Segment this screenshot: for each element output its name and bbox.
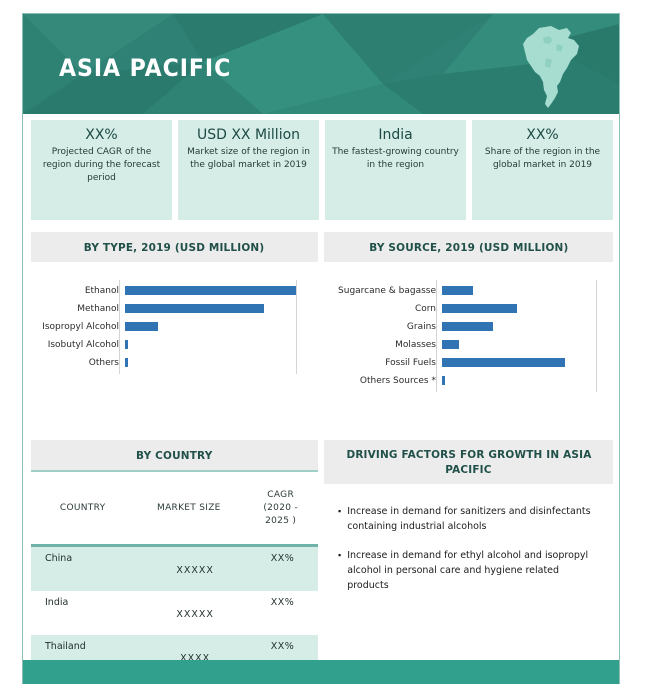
kpi-card-cagr: XX% Projected CAGR of the region during … bbox=[31, 120, 172, 220]
cell-country: India bbox=[31, 597, 143, 608]
cagr-line-3: 2025 ) bbox=[243, 515, 318, 528]
section-title: BY COUNTRY bbox=[136, 449, 212, 462]
kpi-card-market-size: USD XX Million Market size of the region… bbox=[178, 120, 319, 220]
column-header-cagr: CAGR (2020 - 2025 ) bbox=[243, 489, 318, 528]
bar bbox=[442, 286, 473, 295]
chart-by-source: Sugarcane & bagasseCornGrainsMolassesFos… bbox=[324, 268, 613, 418]
country-table: COUNTRY MARKET SIZE CAGR (2020 - 2025 ) … bbox=[31, 470, 318, 676]
bullet-icon: ▪ bbox=[338, 548, 347, 593]
bar-track bbox=[125, 300, 314, 318]
chart-bar-row: Ethanol bbox=[31, 282, 314, 300]
bar-track bbox=[125, 336, 314, 354]
bar-category-label: Methanol bbox=[31, 304, 125, 314]
bar-track bbox=[125, 354, 314, 372]
section-title: BY SOURCE, 2019 (USD MILLION) bbox=[369, 241, 568, 254]
kpi-description: Share of the region in the global market… bbox=[472, 146, 613, 172]
cagr-line-2: (2020 - bbox=[243, 502, 318, 515]
section-header-drivers: DRIVING FACTORS FOR GROWTH IN ASIA PACIF… bbox=[324, 440, 613, 484]
driver-item: ▪Increase in demand for sanitizers and d… bbox=[338, 504, 601, 534]
kpi-value: India bbox=[378, 128, 412, 143]
chart-gridline bbox=[296, 280, 297, 374]
kpi-card-fastest-country: India The fastest-growing country in the… bbox=[325, 120, 466, 220]
bar bbox=[125, 340, 128, 349]
infographic-page: ASIA PACIFIC XX% Projected CAGR of the r… bbox=[0, 0, 650, 696]
chart-bar-row: Others bbox=[31, 354, 314, 372]
bar-track bbox=[442, 282, 609, 300]
header-banner: ASIA PACIFIC bbox=[23, 14, 619, 114]
kpi-card-share: XX% Share of the region in the global ma… bbox=[472, 120, 613, 220]
chart-gridline bbox=[436, 280, 437, 392]
section-header-by-type: BY TYPE, 2019 (USD MILLION) bbox=[31, 232, 318, 262]
bar-category-label: Molasses bbox=[324, 340, 442, 350]
bar bbox=[442, 340, 459, 349]
drivers-list: ▪Increase in demand for sanitizers and d… bbox=[324, 488, 613, 676]
chart-bar-row: Molasses bbox=[324, 336, 609, 354]
bar bbox=[125, 322, 158, 331]
bar-category-label: Isopropyl Alcohol bbox=[31, 322, 125, 332]
bar-category-label: Grains bbox=[324, 322, 442, 332]
section-title: BY TYPE, 2019 (USD MILLION) bbox=[84, 241, 265, 254]
cell-country: Thailand bbox=[31, 641, 143, 652]
bar-track bbox=[442, 318, 609, 336]
chart-bar-row: Corn bbox=[324, 300, 609, 318]
table-row: ChinaXXXXXXX% bbox=[31, 547, 318, 591]
driver-text: Increase in demand for sanitizers and di… bbox=[347, 504, 601, 534]
table-row: IndiaXXXXXXX% bbox=[31, 591, 318, 635]
bar-category-label: Others bbox=[31, 358, 125, 368]
bar bbox=[442, 358, 565, 367]
bar-track bbox=[442, 354, 609, 372]
kpi-value: XX% bbox=[526, 128, 558, 143]
cell-cagr: XX% bbox=[247, 597, 318, 608]
cell-cagr: XX% bbox=[247, 641, 318, 652]
chart-bar-row: Sugarcane & bagasse bbox=[324, 282, 609, 300]
kpi-description: Projected CAGR of the region during the … bbox=[31, 146, 172, 185]
cell-country: China bbox=[31, 553, 143, 564]
bar-track bbox=[442, 300, 609, 318]
section-header-by-source: BY SOURCE, 2019 (USD MILLION) bbox=[324, 232, 613, 262]
table-header-row: COUNTRY MARKET SIZE CAGR (2020 - 2025 ) bbox=[31, 470, 318, 544]
section-header-by-country: BY COUNTRY bbox=[31, 440, 318, 470]
chart-bar-row: Grains bbox=[324, 318, 609, 336]
bar-track bbox=[125, 282, 314, 300]
chart-bar-row: Isopropyl Alcohol bbox=[31, 318, 314, 336]
bar-category-label: Fossil Fuels bbox=[324, 358, 442, 368]
kpi-value: XX% bbox=[85, 128, 117, 143]
south-america-map-icon bbox=[513, 24, 591, 110]
bar bbox=[125, 286, 297, 295]
bullet-icon: ▪ bbox=[338, 504, 347, 534]
chart-bar-row: Isobutyl Alcohol bbox=[31, 336, 314, 354]
kpi-description: The fastest-growing country in the regio… bbox=[325, 146, 466, 172]
chart-bar-row: Methanol bbox=[31, 300, 314, 318]
page-title: ASIA PACIFIC bbox=[59, 54, 231, 82]
bar-category-label: Sugarcane & bagasse bbox=[324, 286, 442, 296]
chart-gridline bbox=[119, 280, 120, 374]
bar-category-label: Ethanol bbox=[31, 286, 125, 296]
bar bbox=[442, 376, 445, 385]
cell-market-size: XXXXX bbox=[143, 553, 247, 576]
bar-track bbox=[442, 372, 609, 390]
chart-bar-row: Fossil Fuels bbox=[324, 354, 609, 372]
bar bbox=[125, 304, 264, 313]
bar-category-label: Isobutyl Alcohol bbox=[31, 340, 125, 350]
bar bbox=[442, 322, 493, 331]
kpi-description: Market size of the region in the global … bbox=[178, 146, 319, 172]
cell-market-size: XXXXX bbox=[143, 597, 247, 620]
cagr-line-1: CAGR bbox=[243, 489, 318, 502]
cell-cagr: XX% bbox=[247, 553, 318, 564]
drivers-title-line-2: PACIFIC bbox=[445, 462, 491, 477]
chart-gridline bbox=[596, 280, 597, 392]
drivers-title-line-1: DRIVING FACTORS FOR GROWTH IN ASIA bbox=[346, 447, 591, 462]
chart-by-type: EthanolMethanolIsopropyl AlcoholIsobutyl… bbox=[31, 268, 318, 418]
bar-category-label: Others Sources * bbox=[324, 376, 442, 386]
chart-bar-row: Others Sources * bbox=[324, 372, 609, 390]
driver-item: ▪Increase in demand for ethyl alcohol an… bbox=[338, 548, 601, 593]
bar-category-label: Corn bbox=[324, 304, 442, 314]
bar-track bbox=[125, 318, 314, 336]
driver-text: Increase in demand for ethyl alcohol and… bbox=[347, 548, 601, 593]
bar bbox=[442, 304, 517, 313]
column-header-country: COUNTRY bbox=[31, 502, 134, 515]
kpi-value: USD XX Million bbox=[197, 128, 300, 143]
kpi-card-row: XX% Projected CAGR of the region during … bbox=[31, 120, 613, 220]
footer-bar bbox=[23, 660, 619, 684]
bar bbox=[125, 358, 128, 367]
bar-track bbox=[442, 336, 609, 354]
column-header-market-size: MARKET SIZE bbox=[134, 502, 243, 515]
